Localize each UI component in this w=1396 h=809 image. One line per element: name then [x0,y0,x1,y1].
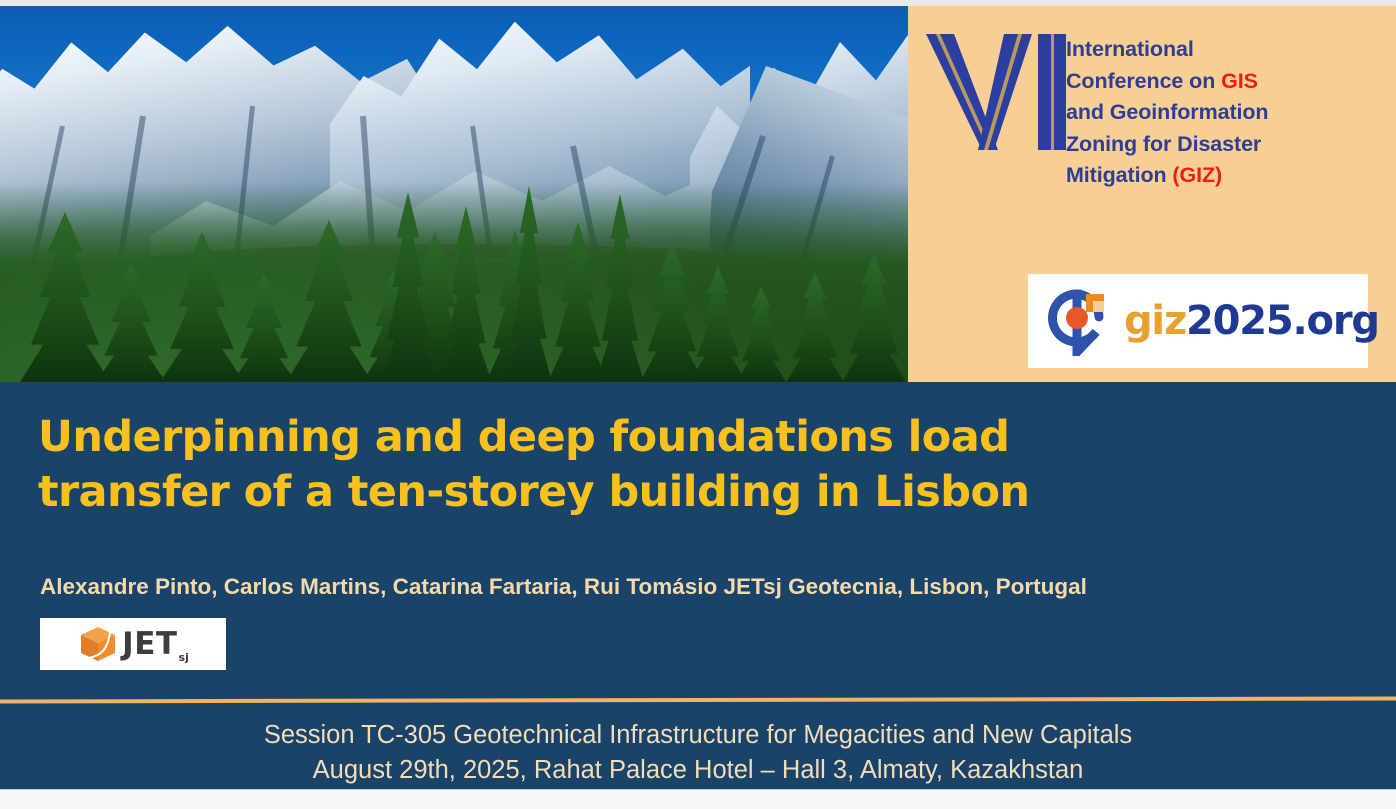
footer-session-line: Session TC-305 Geotechnical Infrastructu… [264,721,1132,749]
footer-divider [0,697,1396,704]
footer-date-venue-line: August 29th, 2025, Rahat Palace Hotel – … [0,753,1396,788]
window-bottom-chrome [0,789,1396,809]
conference-gis-highlight: GIS [1221,69,1258,93]
conference-line-3: and Geoinformation [1066,97,1386,129]
jet-subscript-text: sj [179,651,189,664]
authors-line: Alexandre Pinto, Carlos Martins, Catarin… [40,574,1380,600]
jet-word-text: JET [122,626,177,662]
header-photo [0,6,908,382]
giz-website-logo[interactable]: giz2025.org [1028,274,1368,368]
title-line-2: transfer of a ten-storey building in Lis… [38,465,1358,520]
conference-line-5a: Mitigation [1066,163,1172,187]
page-title: Underpinning and deep foundations load t… [38,410,1358,520]
giz-text-orange: giz [1124,298,1186,344]
location-pin-icon [1046,286,1116,356]
conference-line-2: Conference on GIS [1066,66,1386,98]
orange-cube-icon [78,624,118,664]
giz-wordmark: giz2025.org [1124,298,1379,344]
conference-title-text: International Conference on GIS and Geoi… [1066,34,1386,192]
jetsj-company-logo[interactable]: JETsj [40,618,226,670]
conference-line-2a: Conference on [1066,69,1221,93]
title-line-1: Underpinning and deep foundations load [38,410,1358,465]
conference-giz-highlight: (GIZ) [1172,163,1222,187]
conference-line-5: Mitigation (GIZ) [1066,160,1386,192]
slide-root: International Conference on GIS and Geoi… [0,0,1396,809]
giz-text-blue: 2025.org [1186,298,1379,344]
presentation-slide: International Conference on GIS and Geoi… [0,6,1396,789]
conference-line-4: Zoning for Disaster [1066,129,1386,161]
roman-numeral-six-logo [920,28,1070,178]
conference-line-1: International [1066,34,1386,66]
jet-wordmark: JETsj [122,626,188,662]
slide-footer: Session TC-305 Geotechnical Infrastructu… [0,718,1396,788]
